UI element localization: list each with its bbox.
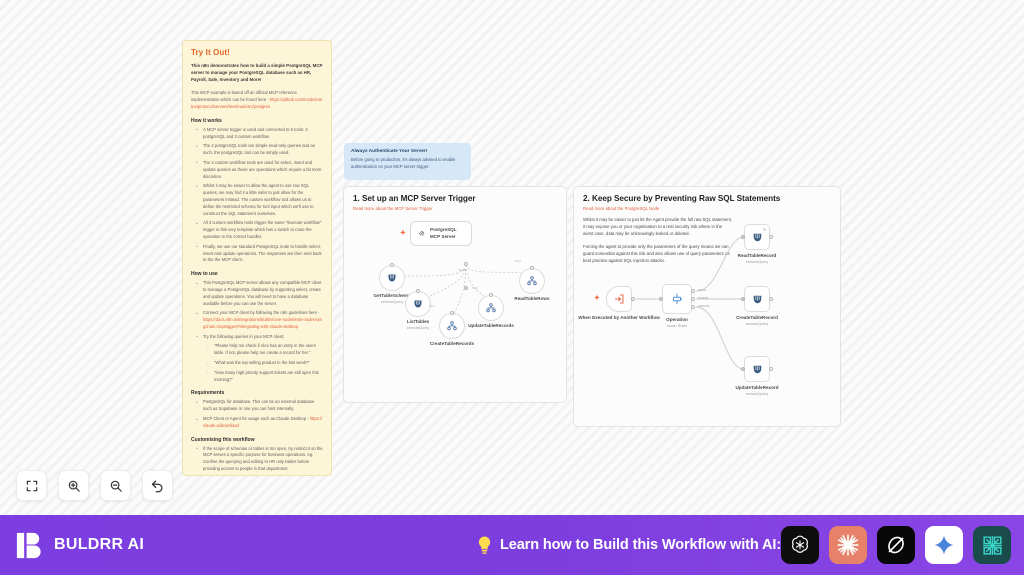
- node-label: ListTables: [407, 319, 429, 324]
- brand-name: BULDRR AI: [54, 536, 144, 554]
- node-body: [744, 286, 770, 312]
- output-label-insert: INSERT: [698, 296, 709, 300]
- authenticate-callout[interactable]: Always Authenticate Your Server! Before …: [344, 143, 471, 180]
- mcp-icon: [418, 228, 425, 239]
- list-item: Finally, we use our standard PostgreSQL …: [199, 244, 323, 264]
- node-when-executed-by-another-workflow[interactable]: When Executed by Another Workflow: [606, 286, 632, 312]
- node-input-port[interactable]: [489, 293, 493, 297]
- node-label: UpdateTableRecords: [468, 323, 514, 328]
- gemini-icon[interactable]: [925, 526, 963, 564]
- node-input-port[interactable]: [450, 311, 454, 315]
- list-item: Try the following queries in your MCP cl…: [199, 334, 323, 384]
- list-item: The 2 postgreSQL tools are simple read-o…: [199, 143, 323, 157]
- zoom-in-icon: [67, 479, 81, 493]
- node-sublabel: executeQuery: [746, 322, 768, 326]
- node-output-port-read[interactable]: [691, 289, 695, 293]
- deepseek-glyph-icon: [980, 533, 1005, 558]
- node-input-port[interactable]: [659, 297, 663, 301]
- deepseek-icon[interactable]: [973, 526, 1011, 564]
- expand-icon: [25, 479, 39, 493]
- node-body: [606, 286, 632, 312]
- node-body: [744, 224, 770, 250]
- list-item: A MCP server trigger is used and connect…: [199, 127, 323, 141]
- node-listtables[interactable]: ListTables executeQuery: [405, 291, 431, 317]
- gemini-glyph-icon: [932, 533, 956, 557]
- grok-glyph-icon: [884, 533, 908, 557]
- node-label: CreateTableRecords: [430, 341, 474, 346]
- add-node-plus-icon[interactable]: ✦: [594, 295, 600, 302]
- list-item: All 3 custom workflow tools trigger the …: [199, 220, 323, 240]
- node-sublabel: executeQuery: [407, 326, 429, 330]
- list-item-text: MCP Client or Agent for usage such as Cl…: [203, 416, 309, 421]
- node-body: [744, 356, 770, 382]
- edge-label: Tool: [472, 286, 478, 290]
- tools-hub-port[interactable]: [464, 286, 468, 290]
- postgresql-icon: [386, 272, 398, 284]
- node-readtablerows[interactable]: ReadTableRows Tool: [519, 268, 545, 294]
- list-item: Whilst it may be easier to allow the age…: [199, 183, 323, 217]
- canvas-toolbar: [16, 470, 173, 501]
- port-label: Tools: [459, 268, 466, 272]
- list-item: "What was the top selling product in the…: [210, 360, 323, 367]
- cta-text: Learn how to Build this Workflow with AI…: [500, 537, 781, 553]
- node-readtablerecord[interactable]: ReadTableRecord executeQuery: [744, 224, 770, 250]
- reset-button[interactable]: [142, 470, 173, 501]
- zoom-out-button[interactable]: [100, 470, 131, 501]
- note-how-to-use-heading: How to use: [191, 271, 323, 277]
- undo-icon: [150, 478, 165, 493]
- node-sublabel: executeQuery: [381, 300, 403, 304]
- section-mcp-server-trigger[interactable]: 1. Set up an MCP Server Trigger Read mor…: [343, 186, 567, 403]
- callout-body: Before going to production, it's always …: [351, 157, 464, 170]
- note-requirements-list: PostgreSQL for database. This can be an …: [191, 399, 323, 429]
- note-how-it-works-heading: How it works: [191, 118, 323, 124]
- note-intro: This MCP example is based off an officia…: [191, 90, 323, 110]
- node-createtablerecords[interactable]: CreateTableRecords Tool: [439, 313, 465, 339]
- note-lead: This n8n demonstrates how to build a sim…: [191, 62, 323, 83]
- edge-label: Tool: [515, 259, 521, 263]
- list-item: If the scope of schemas or tables is too…: [199, 446, 323, 473]
- node-label: UpdateTableRecord: [735, 385, 778, 390]
- list-item-text: Connect your MCP client by following the…: [203, 310, 320, 315]
- node-label: PostgreSQL MCP Server: [430, 227, 464, 239]
- node-output-port[interactable]: [769, 235, 773, 239]
- claude-glyph-icon: [835, 532, 861, 558]
- cta-block: Learn how to Build this Workflow with AI…: [476, 535, 781, 555]
- output-label-update: UPDATE: [698, 304, 710, 308]
- note-requirements-heading: Requirements: [191, 390, 323, 396]
- node-input-port[interactable]: [530, 266, 534, 270]
- brand[interactable]: BULDRR AI: [14, 530, 144, 561]
- pin-icon: [762, 227, 767, 232]
- note-customising-heading: Customising this workflow: [191, 437, 323, 443]
- postgresql-icon: [412, 298, 424, 310]
- section-prevent-raw-sql[interactable]: 2. Keep Secure by Preventing Raw SQL Sta…: [573, 186, 841, 427]
- execute-workflow-icon: [613, 293, 625, 305]
- node-output-port[interactable]: [631, 297, 635, 301]
- node-sublabel: executeQuery: [746, 260, 768, 264]
- section1-workflow: PostgreSQL MCP Server ✦ Tools GetTableSc…: [344, 187, 566, 402]
- node-sublabel: executeQuery: [746, 392, 768, 396]
- node-label: ReadTableRows: [514, 296, 549, 301]
- list-item: Connect your MCP client by following the…: [199, 310, 323, 330]
- node-output-port-insert[interactable]: [691, 297, 695, 301]
- node-updatetablerecord[interactable]: UpdateTableRecord executeQuery: [744, 356, 770, 382]
- node-body: [379, 265, 405, 291]
- workflow-icon: [526, 275, 538, 287]
- node-operation-switch[interactable]: Operation mode: Rules READ INSERT UPDATE: [662, 284, 692, 314]
- node-input-port[interactable]: [741, 235, 745, 239]
- note-how-it-works-list: A MCP server trigger is used and connect…: [191, 127, 323, 264]
- buldrr-logo-icon: [14, 530, 45, 561]
- list-item: MCP Client or Agent for usage such as Cl…: [199, 416, 323, 430]
- zoom-in-button[interactable]: [58, 470, 89, 501]
- switch-icon: [670, 292, 684, 306]
- note-title: Try It Out!: [191, 48, 323, 57]
- zoom-out-icon: [109, 479, 123, 493]
- node-input-port[interactable]: [416, 289, 420, 293]
- node-input-port[interactable]: [741, 367, 745, 371]
- postgresql-icon: [751, 293, 764, 306]
- node-label: CreateTableRecord: [736, 315, 778, 320]
- list-item: This PostgreSQL MCP server allows any co…: [199, 280, 323, 307]
- postgresql-icon: [751, 231, 764, 244]
- openai-icon[interactable]: [781, 526, 819, 564]
- node-input-port[interactable]: [741, 297, 745, 301]
- note-docs-link[interactable]: https://docs.n8n.io/integrations/builtin…: [203, 317, 322, 329]
- node-postgresql-mcp-server[interactable]: PostgreSQL MCP Server: [410, 221, 472, 246]
- trigger-output-port[interactable]: [464, 262, 468, 266]
- node-input-port[interactable]: [390, 263, 394, 267]
- sticky-note[interactable]: Try It Out! This n8n demonstrates how to…: [182, 40, 332, 476]
- list-item: "How many high priority support tickets …: [210, 370, 323, 384]
- node-updatetablerecords[interactable]: UpdateTableRecords Tool: [478, 295, 504, 321]
- node-output-port[interactable]: [769, 297, 773, 301]
- list-item: PostgreSQL for database. This can be an …: [199, 399, 323, 413]
- node-body: [439, 313, 465, 339]
- node-label: Operation: [666, 317, 688, 322]
- list-item: The 3 custom workflow tools are used for…: [199, 160, 323, 180]
- add-node-plus-icon[interactable]: ✦: [400, 230, 406, 237]
- edge-label: Tool: [429, 304, 435, 308]
- node-createtablerecord[interactable]: CreateTableRecord executeQuery: [744, 286, 770, 312]
- node-sublabel: mode: Rules: [667, 324, 687, 328]
- node-body: [519, 268, 545, 294]
- postgresql-icon: [751, 363, 764, 376]
- note-how-to-use-list: This PostgreSQL MCP server allows any co…: [191, 280, 323, 383]
- workflow-icon: [485, 302, 497, 314]
- note-customising-list: If the scope of schemas or tables is too…: [191, 446, 323, 476]
- node-body: [662, 284, 692, 314]
- node-label: ReadTableRecord: [738, 253, 777, 258]
- grok-icon[interactable]: [877, 526, 915, 564]
- lightbulb-icon: [476, 535, 493, 555]
- openai-glyph-icon: [788, 533, 812, 557]
- footer-bar: BULDRR AI Learn how to Build this Workfl…: [0, 515, 1024, 575]
- ai-tool-icons: [781, 526, 1011, 564]
- note-query-examples: "Please help me check if Alex has an ent…: [203, 343, 323, 383]
- fit-to-screen-button[interactable]: [16, 470, 47, 501]
- list-item-text: Try the following queries in your MCP cl…: [203, 334, 284, 339]
- workflow-canvas[interactable]: Try It Out! This n8n demonstrates how to…: [0, 0, 1024, 515]
- list-item: "Please help me check if Alex has an ent…: [210, 343, 323, 357]
- node-label: When Executed by Another Workflow: [578, 315, 659, 321]
- node-output-port-update[interactable]: [691, 305, 695, 309]
- node-body: [405, 291, 431, 317]
- node-gettableschema[interactable]: GetTableSchema executeQuery: [379, 265, 405, 291]
- node-body: [478, 295, 504, 321]
- section2-workflow: When Executed by Another Workflow ✦ Oper…: [574, 187, 840, 426]
- output-label-read: READ: [698, 288, 706, 292]
- node-output-port[interactable]: [769, 367, 773, 371]
- workflow-icon: [446, 320, 458, 332]
- claude-icon[interactable]: [829, 526, 867, 564]
- callout-title: Always Authenticate Your Server!: [351, 149, 464, 154]
